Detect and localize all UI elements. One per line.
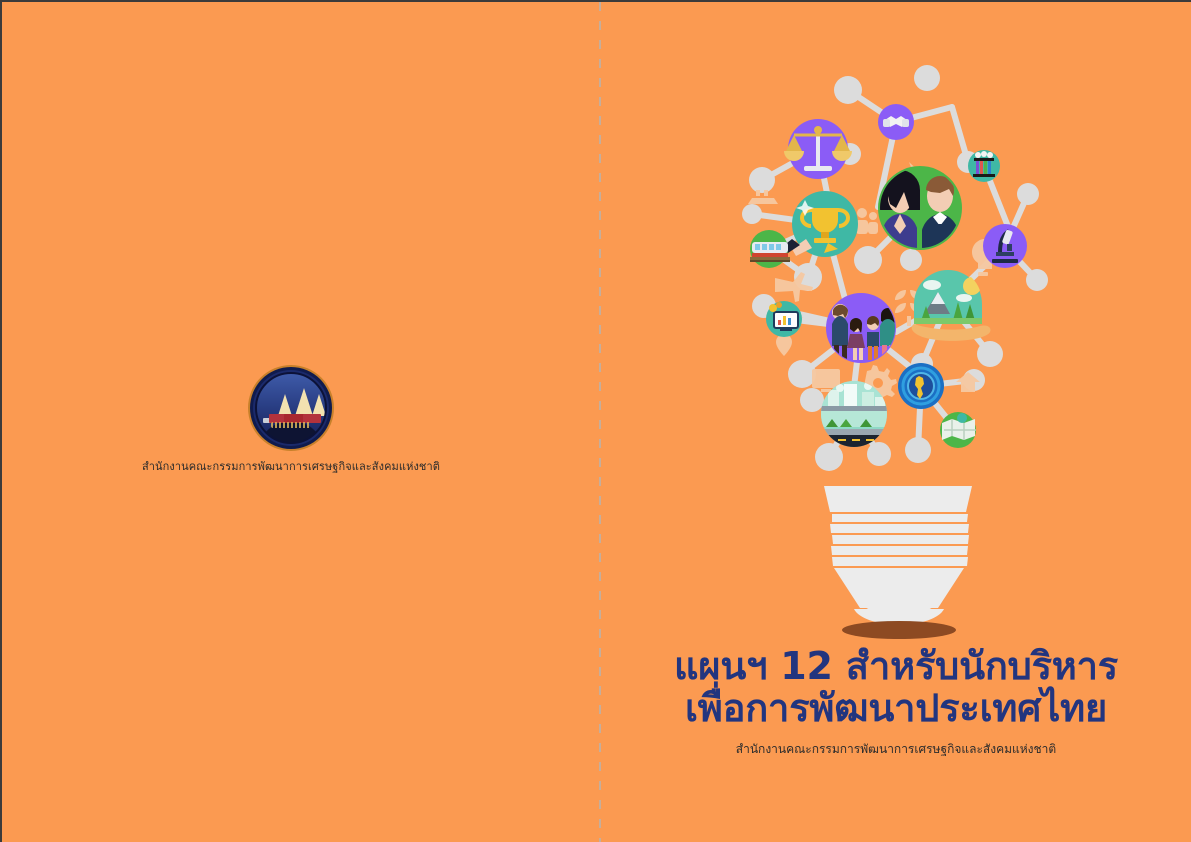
bulb-ground-shadow: [842, 621, 956, 639]
node-data-dashboard-icon: [766, 301, 802, 337]
node-test-tubes-icon: [968, 150, 1000, 182]
seal-inner-ring: [255, 372, 327, 444]
seal-block: สำนักงานคณะกรรมการพัฒนาการเศรษฐกิจและสัง…: [2, 370, 580, 475]
node-trophy-award-icon: [782, 191, 858, 257]
back-cover-organization-caption: สำนักงานคณะกรรมการพัฒนาการเศรษฐกิจและสัง…: [142, 457, 440, 475]
cover-spread: สำนักงานคณะกรรมการพัฒนาการเศรษฐกิจและสัง…: [0, 0, 1191, 842]
node-smart-city-icon: [821, 381, 887, 449]
node-map-location-icon: [940, 412, 976, 448]
node-microscope-icon: [983, 224, 1027, 268]
node-scales-of-justice-icon: [784, 119, 852, 179]
title-block: แผนฯ 12 สำหรับนักบริหาร เพื่อการพัฒนาประ…: [599, 646, 1191, 759]
lightbulb-network-illustration: [728, 2, 1068, 642]
node-handshake-icon: [878, 104, 914, 140]
center-fold-line: [599, 2, 601, 842]
pin-icon: [776, 334, 792, 356]
front-cover-panel: แผนฯ 12 สำหรับนักบริหาร เพื่อการพัฒนาประ…: [599, 2, 1191, 842]
node-family-people-icon: [826, 293, 896, 363]
node-thailand-globe-icon: [898, 363, 944, 409]
cover-subtitle: สำนักงานคณะกรรมการพัฒนาการเศรษฐกิจและสัง…: [599, 740, 1191, 759]
back-cover-panel: สำนักงานคณะกรรมการพัฒนาการเศรษฐกิจและสัง…: [2, 2, 599, 842]
node-nature-landscape-icon: [912, 270, 991, 341]
cover-title-line-1: แผนฯ 12 สำหรับนักบริหาร: [599, 646, 1191, 686]
nesdb-seal-icon: [253, 370, 329, 446]
cover-title-line-2: เพื่อการพัฒนาประเทศไทย: [599, 688, 1191, 728]
